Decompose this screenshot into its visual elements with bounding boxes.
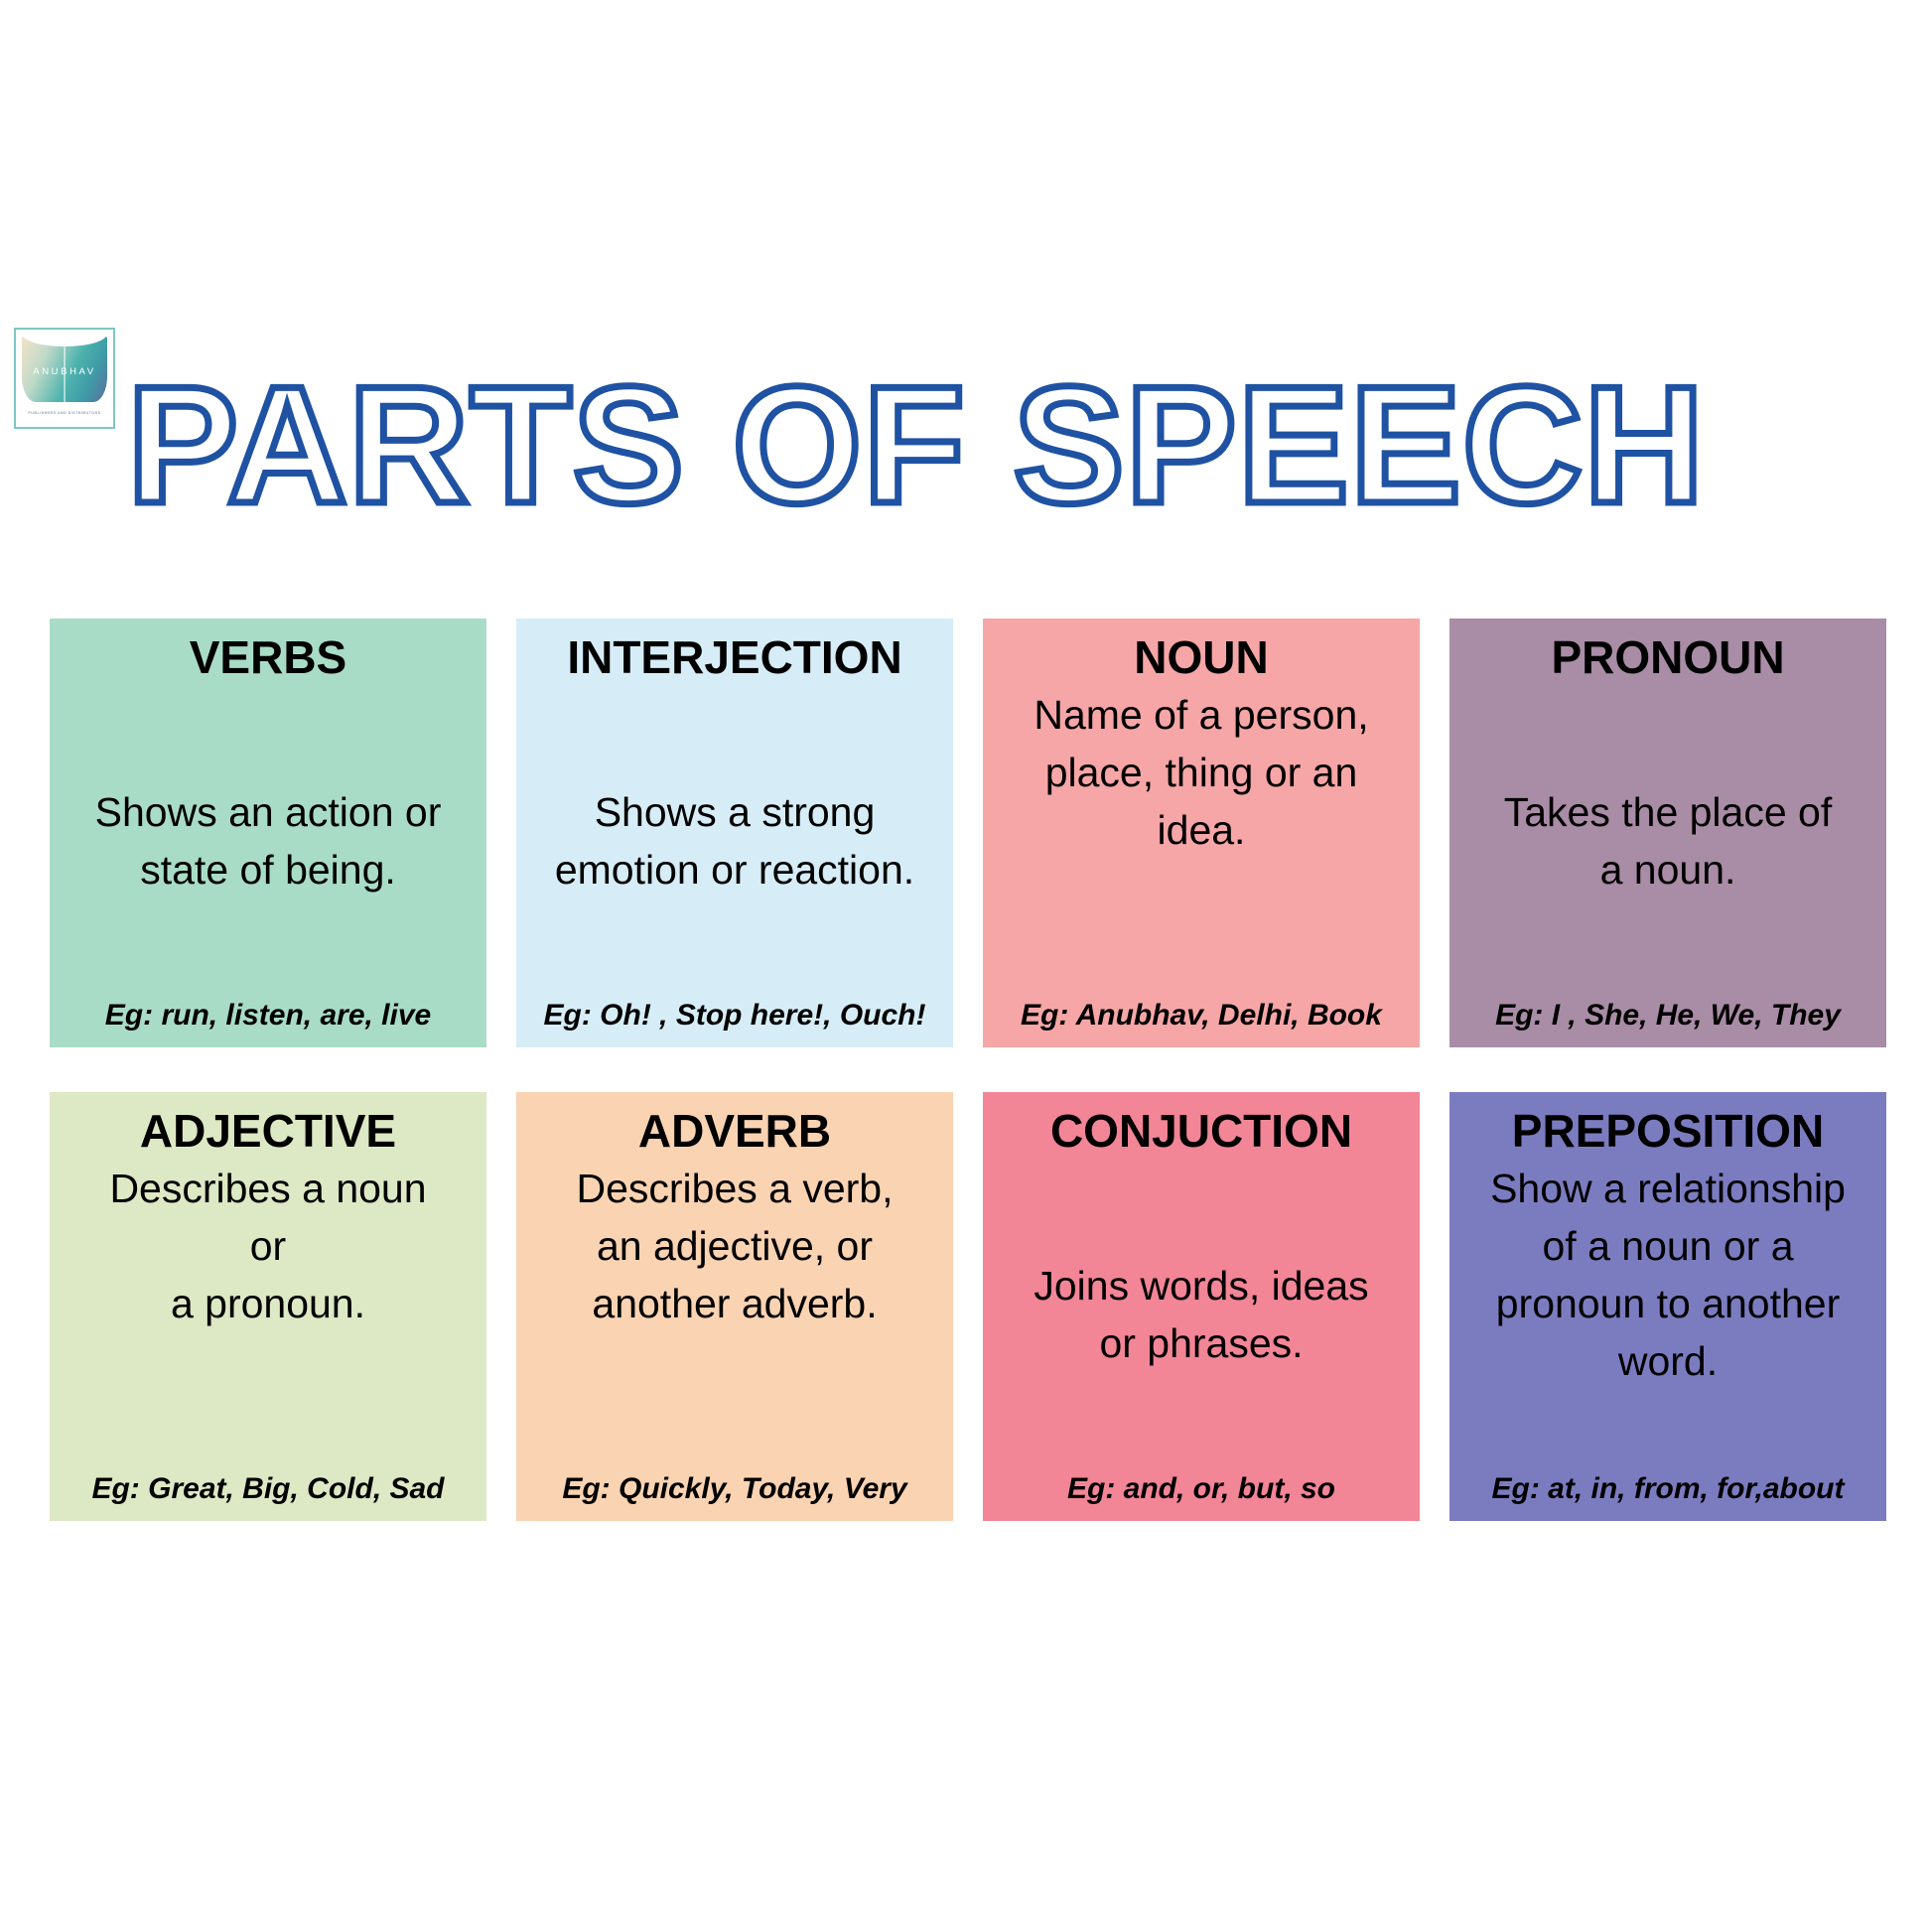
card-description: Describes a verb, an adjective, or anoth… [524,1158,945,1471]
part-of-speech-card: ADVERBDescribes a verb, an adjective, or… [516,1092,953,1521]
card-example: Eg: Oh! , Stop here!, Ouch! [524,998,945,1037]
card-title: PRONOUN [1457,630,1878,684]
card-example: Eg: I , She, He, We, They [1457,998,1878,1037]
card-title: PREPOSITION [1457,1104,1878,1158]
card-description: Describes a noun or a pronoun. [58,1158,479,1471]
book-icon: ANUBHAV [22,337,107,402]
parts-of-speech-grid: VERBSShows an action or state of being.E… [50,619,1886,1521]
card-title: ADVERB [524,1104,945,1158]
page-title: PARTS OF SPEECH [127,368,1835,522]
part-of-speech-card: CONJUCTIONJoins words, ideas or phrases.… [983,1092,1420,1521]
card-example: Eg: at, in, from, for,about [1457,1471,1878,1511]
card-example: Eg: run, listen, are, live [58,998,479,1037]
part-of-speech-card: ADJECTIVEDescribes a noun or a pronoun.E… [50,1092,486,1521]
part-of-speech-card: NOUNName of a person, place, thing or an… [983,619,1420,1047]
card-example: Eg: Quickly, Today, Very [524,1471,945,1511]
part-of-speech-card: PRONOUNTakes the place of a noun.Eg: I ,… [1449,619,1886,1047]
card-description: Shows a strong emotion or reaction. [524,684,945,998]
logo-tagline: PUBLISHERS AND DISTRIBUTORS [22,411,107,415]
card-description: Takes the place of a noun. [1457,684,1878,998]
card-example: Eg: Great, Big, Cold, Sad [58,1471,479,1511]
part-of-speech-card: PREPOSITIONShow a relationship of a noun… [1449,1092,1886,1521]
card-title: VERBS [58,630,479,684]
card-description: Shows an action or state of being. [58,684,479,998]
card-title: INTERJECTION [524,630,945,684]
card-description: Show a relationship of a noun or a prono… [1457,1158,1878,1471]
part-of-speech-card: VERBSShows an action or state of being.E… [50,619,486,1047]
part-of-speech-card: INTERJECTIONShows a strong emotion or re… [516,619,953,1047]
card-example: Eg: and, or, but, so [991,1471,1412,1511]
logo-wordmark: ANUBHAV [22,366,107,377]
anubhav-logo: ANUBHAV PUBLISHERS AND DISTRIBUTORS [14,328,115,429]
card-description: Name of a person, place, thing or an ide… [991,684,1412,998]
card-example: Eg: Anubhav, Delhi, Book [991,998,1412,1037]
card-title: NOUN [991,630,1412,684]
card-description: Joins words, ideas or phrases. [991,1158,1412,1471]
card-title: CONJUCTION [991,1104,1412,1158]
card-title: ADJECTIVE [58,1104,479,1158]
